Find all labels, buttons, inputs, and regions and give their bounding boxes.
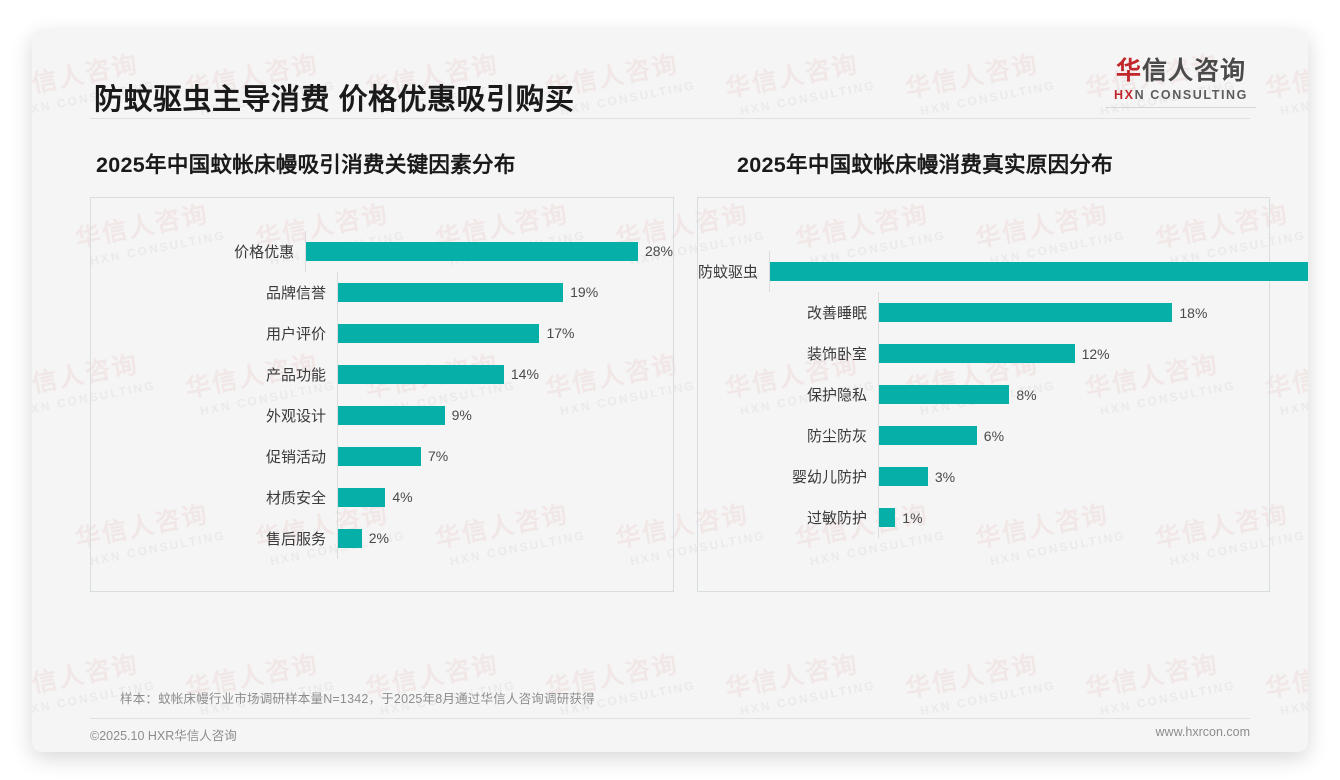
bar[interactable]: [879, 467, 928, 486]
bar-row: 用户评价17%: [91, 313, 673, 354]
bar-category-label: 促销活动: [91, 446, 337, 467]
bar[interactable]: [338, 488, 385, 507]
bar-value-label: 17%: [546, 325, 574, 341]
bar-track: 19%: [337, 272, 673, 313]
bar-category-label: 价格优惠: [91, 241, 305, 262]
page-title: 防蚊驱虫主导消费 价格优惠吸引购买: [94, 76, 575, 118]
bar-track: 1%: [878, 497, 1269, 538]
bar-track: 6%: [878, 415, 1269, 456]
footer-website[interactable]: www.hxrcon.com: [1156, 725, 1250, 739]
chart-panel-right: 2025年中国蚊帐床幔消费真实原因分布 防蚊驱虫52%改善睡眠18%装饰卧室12…: [697, 148, 1270, 592]
logo-chinese-text: 华信人咨询: [1092, 58, 1270, 86]
bar-row: 装饰卧室12%: [698, 333, 1269, 374]
bar-track: 2%: [337, 518, 673, 559]
watermark-chinese: 华信人咨询: [902, 642, 1054, 706]
bar-track: 8%: [878, 374, 1269, 415]
bar-category-label: 婴幼儿防护: [698, 466, 878, 487]
bar-row: 材质安全4%: [91, 477, 673, 518]
bar-category-label: 材质安全: [91, 487, 337, 508]
bar[interactable]: [338, 283, 563, 302]
watermark-english: HXN CONSULTING: [1279, 678, 1308, 718]
bar-row: 促销活动7%: [91, 436, 673, 477]
logo-underline: [1106, 107, 1256, 108]
chart-title-right: 2025年中国蚊帐床幔消费真实原因分布: [737, 148, 1270, 179]
bar-row: 品牌信誉19%: [91, 272, 673, 313]
watermark-text: 华信人咨询HXN CONSULTING: [1082, 642, 1237, 720]
watermark-text: 华信人咨询HXN CONSULTING: [542, 642, 697, 720]
bar-value-label: 18%: [1179, 305, 1207, 321]
bar-category-label: 品牌信誉: [91, 282, 337, 303]
bar-category-label: 外观设计: [91, 405, 337, 426]
bar-track: 9%: [337, 395, 673, 436]
bar[interactable]: [879, 426, 977, 445]
bar[interactable]: [306, 242, 638, 261]
bar[interactable]: [879, 508, 895, 527]
watermark-chinese: 华信人咨询: [1082, 642, 1234, 706]
slide-header: 防蚊驱虫主导消费 价格优惠吸引购买 华信人咨询 HXN CONSULTING: [32, 30, 1308, 118]
bar-row: 保护隐私8%: [698, 374, 1269, 415]
bar-category-label: 改善睡眠: [698, 302, 878, 323]
header-divider: [90, 118, 1250, 119]
logo-accent-char: 华: [1116, 57, 1142, 85]
bar-row: 产品功能14%: [91, 354, 673, 395]
bar-category-label: 防蚊驱虫: [698, 261, 769, 282]
bar-value-label: 9%: [452, 407, 472, 423]
watermark-text: 华信人咨询HXN CONSULTING: [32, 642, 157, 720]
bar-value-label: 7%: [428, 448, 448, 464]
bar-value-label: 8%: [1016, 387, 1036, 403]
logo-english-text: HXN CONSULTING: [1092, 88, 1270, 102]
watermark-text: 华信人咨询HXN CONSULTING: [362, 642, 517, 720]
watermark-chinese: 华信人咨询: [1262, 642, 1308, 706]
bar-value-label: 19%: [570, 284, 598, 300]
bar-category-label: 售后服务: [91, 528, 337, 549]
bar-track: 7%: [337, 436, 673, 477]
chart-frame-right: 防蚊驱虫52%改善睡眠18%装饰卧室12%保护隐私8%防尘防灰6%婴幼儿防护3%…: [697, 197, 1270, 592]
bar-row: 过敏防护1%: [698, 497, 1269, 538]
bar-category-label: 防尘防灰: [698, 425, 878, 446]
bar-track: 3%: [878, 456, 1269, 497]
bar-track: 14%: [337, 354, 673, 395]
bar-value-label: 4%: [392, 489, 412, 505]
bar-track: 17%: [337, 313, 673, 354]
bar-category-label: 保护隐私: [698, 384, 878, 405]
watermark-text: 华信人咨询HXN CONSULTING: [722, 642, 877, 720]
bar[interactable]: [770, 262, 1308, 281]
watermark-text: 华信人咨询HXN CONSULTING: [1262, 642, 1308, 720]
bar-value-label: 2%: [369, 530, 389, 546]
watermark-english: HXN CONSULTING: [1099, 678, 1237, 718]
logo-rest-chars: 信人咨询: [1142, 57, 1246, 85]
bar-row: 改善睡眠18%: [698, 292, 1269, 333]
bar-category-label: 装饰卧室: [698, 343, 878, 364]
bar-row: 外观设计9%: [91, 395, 673, 436]
slide-card: 华信人咨询HXN CONSULTING华信人咨询HXN CONSULTING华信…: [32, 30, 1308, 752]
footer-divider: [90, 718, 1250, 719]
sample-footnote: 样本：蚊帐床幔行业市场调研样本量N=1342，于2025年8月通过华信人咨询调研…: [120, 688, 595, 707]
bar-list-right: 防蚊驱虫52%改善睡眠18%装饰卧室12%保护隐私8%防尘防灰6%婴幼儿防护3%…: [698, 198, 1269, 591]
chart-frame-left: 价格优惠28%品牌信誉19%用户评价17%产品功能14%外观设计9%促销活动7%…: [90, 197, 674, 592]
watermark-english: HXN CONSULTING: [919, 678, 1057, 718]
chart-title-left: 2025年中国蚊帐床幔吸引消费关键因素分布: [96, 148, 674, 179]
logo-en-accent: HX: [1114, 88, 1135, 102]
bar-row: 价格优惠28%: [91, 231, 673, 272]
company-logo: 华信人咨询 HXN CONSULTING: [1092, 58, 1270, 108]
footer-copyright: ©2025.10 HXR华信人咨询: [90, 725, 237, 744]
bar[interactable]: [879, 344, 1075, 363]
bar[interactable]: [879, 303, 1172, 322]
bar-track: 4%: [337, 477, 673, 518]
bar-row: 售后服务2%: [91, 518, 673, 559]
bar-row: 防尘防灰6%: [698, 415, 1269, 456]
bar-value-label: 12%: [1082, 346, 1110, 362]
watermark-text: 华信人咨询HXN CONSULTING: [902, 642, 1057, 720]
bar-track: 52%: [769, 251, 1308, 292]
bar[interactable]: [338, 406, 445, 425]
watermark-text: 华信人咨询HXN CONSULTING: [182, 642, 337, 720]
bar-value-label: 1%: [902, 510, 922, 526]
bar-list-left: 价格优惠28%品牌信誉19%用户评价17%产品功能14%外观设计9%促销活动7%…: [91, 198, 673, 591]
watermark-english: HXN CONSULTING: [739, 678, 877, 718]
bar[interactable]: [338, 365, 504, 384]
bar-track: 12%: [878, 333, 1269, 374]
bar-row: 防蚊驱虫52%: [698, 251, 1269, 292]
bar[interactable]: [338, 529, 362, 548]
bar[interactable]: [879, 385, 1009, 404]
bar-value-label: 3%: [935, 469, 955, 485]
bar-row: 婴幼儿防护3%: [698, 456, 1269, 497]
watermark-english: HXN CONSULTING: [1279, 378, 1308, 418]
bar-track: 28%: [305, 231, 673, 272]
chart-panel-left: 2025年中国蚊帐床幔吸引消费关键因素分布 价格优惠28%品牌信誉19%用户评价…: [90, 148, 674, 592]
bar-category-label: 用户评价: [91, 323, 337, 344]
bar-track: 18%: [878, 292, 1269, 333]
bar[interactable]: [338, 447, 421, 466]
bar-value-label: 6%: [984, 428, 1004, 444]
logo-en-rest: N CONSULTING: [1135, 88, 1248, 102]
bar-category-label: 过敏防护: [698, 507, 878, 528]
bar-value-label: 28%: [645, 243, 673, 259]
bar-category-label: 产品功能: [91, 364, 337, 385]
bar[interactable]: [338, 324, 539, 343]
bar-value-label: 14%: [511, 366, 539, 382]
watermark-chinese: 华信人咨询: [722, 642, 874, 706]
